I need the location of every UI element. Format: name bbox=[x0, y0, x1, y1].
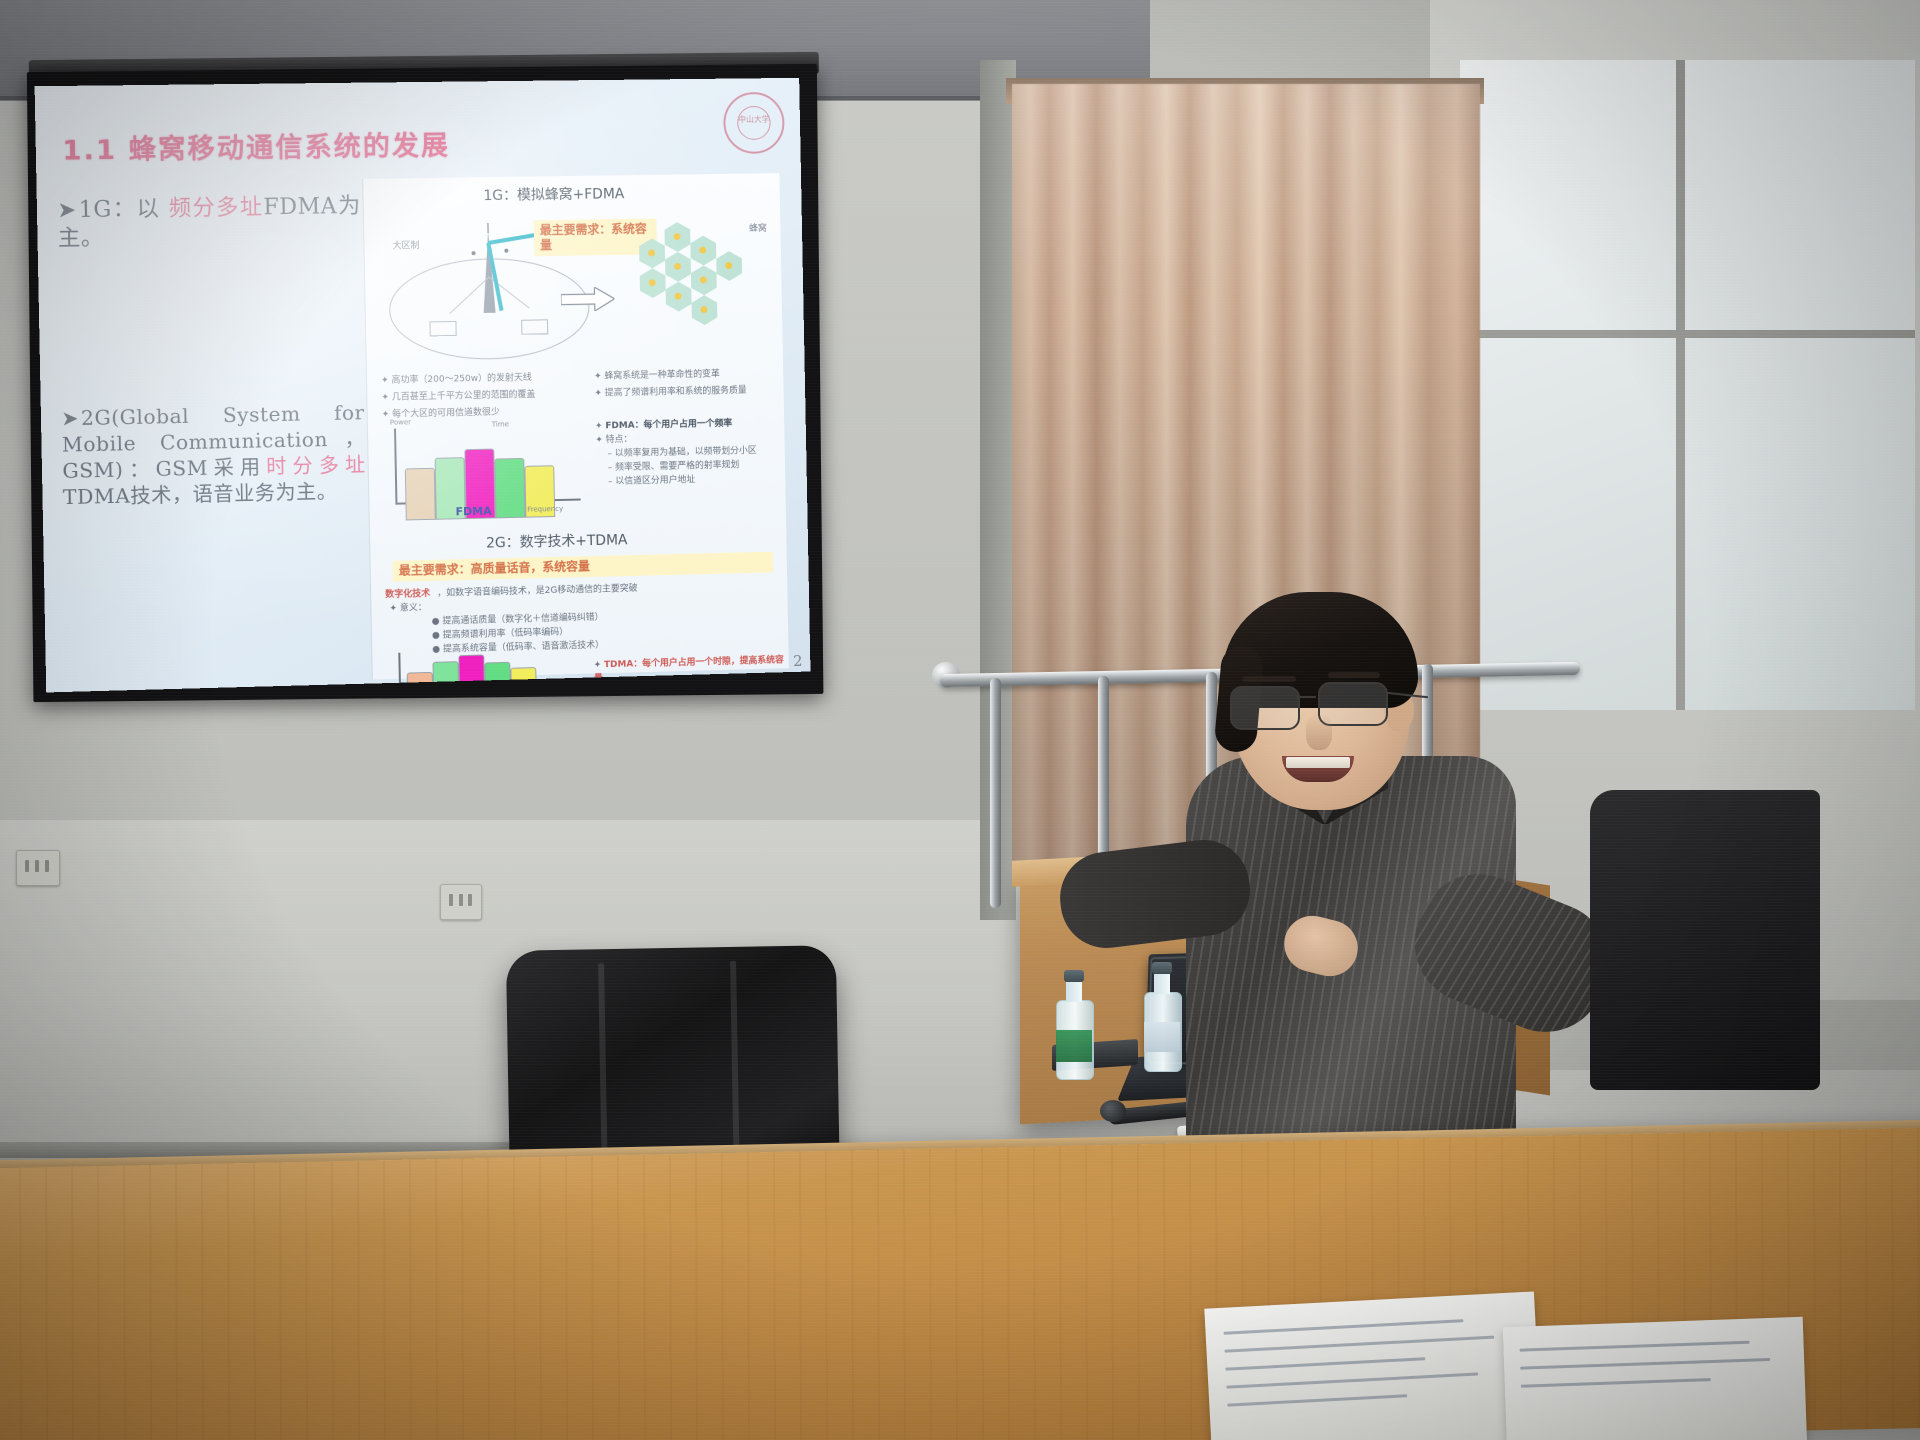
hex-cell bbox=[690, 236, 716, 266]
hex-cell bbox=[716, 251, 742, 281]
bottle-cap bbox=[1152, 962, 1172, 974]
panel-2g-meaning-label: ✦ 意义： bbox=[389, 602, 427, 617]
university-logo-icon: 中山大学 bbox=[723, 92, 785, 154]
slide-title: 1.1 蜂窝移动通信系统的发展 bbox=[62, 124, 450, 168]
eyeglass-bridge bbox=[1296, 696, 1316, 698]
panel-2g-highlight: 最主要需求：高质量话音，系统容量 bbox=[393, 552, 774, 582]
bullet-arrow-icon: ➤ bbox=[57, 198, 77, 224]
slide-right-panel: 1G：模拟蜂窝+FDMA 大区制 最主要需求：系统 bbox=[362, 173, 789, 679]
slide-left-column: ➤1G：以 频分多址FDMA为主。 ➤2G(Global System for … bbox=[57, 193, 366, 519]
chart-y-label: Power bbox=[390, 418, 411, 426]
bullet-item: ✦ 几百甚至上千平方公里的范围的覆盖 bbox=[381, 388, 590, 406]
draped-coat bbox=[1590, 790, 1820, 1090]
bullet-item: ✦ 每个大区的可用信道数很少 bbox=[382, 405, 591, 423]
hex-cell bbox=[691, 265, 717, 295]
presenter-eyebrow-right bbox=[1328, 672, 1380, 678]
microphone-head bbox=[1100, 1100, 1126, 1122]
bottle-neck bbox=[1066, 982, 1082, 1002]
hex-cell bbox=[665, 282, 691, 312]
hex-cell bbox=[639, 238, 665, 268]
label-cellular: 蜂窝 bbox=[749, 221, 767, 234]
university-logo-label: 中山大学 bbox=[725, 114, 782, 126]
hex-cell bbox=[691, 295, 717, 325]
chart-x-label: Frequency bbox=[527, 505, 563, 514]
bullet-item: ✦ 高功率（200～250w）的发射天线 bbox=[381, 371, 590, 389]
bullet-2g-p3: TDMA技术，语音业务为主。 bbox=[63, 479, 338, 509]
fdma-note: – 以信道区分用户地址 bbox=[608, 472, 780, 490]
railing-post bbox=[990, 678, 1001, 908]
bullet-1g-p1: 1G：以 bbox=[78, 197, 169, 223]
eyeglass-temple bbox=[1386, 692, 1428, 698]
panel-2g-header: 2G：数字技术+TDMA bbox=[486, 529, 628, 552]
chart-bar bbox=[405, 468, 436, 521]
wall-outlet-right bbox=[440, 884, 482, 920]
chart-bar bbox=[494, 458, 525, 519]
chart-z-label: Time bbox=[492, 420, 509, 428]
presenter-nose bbox=[1306, 714, 1332, 750]
panel-fdma-notes: ✦ FDMA：每个用户占用一个频率 ✦ 特点： – 以频率复用为基础，以频带划分… bbox=[595, 417, 780, 490]
panel-2g-lead-red: 数字化技术 bbox=[385, 588, 430, 603]
panel-1g-header: 1G：模拟蜂窝+FDMA bbox=[483, 183, 624, 205]
bottle-neck bbox=[1154, 974, 1170, 994]
slide-page-number: 2 bbox=[793, 652, 803, 670]
slide-bullet-2g: ➤2G(Global System for Mobile Communicati… bbox=[61, 399, 366, 510]
window-mullion-v bbox=[1676, 60, 1685, 710]
window-mullion-h bbox=[1460, 330, 1915, 338]
transition-arrow-icon bbox=[561, 287, 615, 312]
chart-y-axis bbox=[394, 429, 397, 505]
panel-1g-bullets-right: ✦ 蜂窝系统是一种革命性的变革 ✦ 提高了频谱利用率和系统的服务质量 bbox=[594, 367, 778, 401]
hex-cell bbox=[640, 268, 666, 298]
label-macro-cell: 大区制 bbox=[392, 238, 419, 251]
hex-cell bbox=[665, 252, 691, 282]
cellular-hex-cluster bbox=[621, 221, 771, 350]
presenter-teeth bbox=[1286, 757, 1350, 768]
bullet-item: ✦ 提高了频谱利用率和系统的服务质量 bbox=[594, 384, 777, 401]
chart-title: FDMA bbox=[455, 505, 491, 519]
seated-presenter bbox=[1178, 588, 1598, 1148]
hex-cell bbox=[664, 222, 690, 252]
printed-handout-1[interactable] bbox=[1204, 1291, 1541, 1440]
bottle-label bbox=[1056, 1030, 1092, 1062]
bullet-arrow-icon: ➤ bbox=[61, 406, 79, 431]
fdma-chart: Power Time FDMA Frequency bbox=[388, 425, 589, 521]
bullet-2g-highlight: 时分多址 bbox=[266, 453, 366, 479]
panel-1g-bullets-left: ✦ 高功率（200～250w）的发射天线 ✦ 几百甚至上千平方公里的范围的覆盖 … bbox=[381, 371, 591, 423]
wall-outlet-left bbox=[16, 850, 60, 886]
bottle-cap bbox=[1064, 970, 1084, 982]
eyeglass-lens-left bbox=[1230, 686, 1300, 730]
photo-scene: 1.1 蜂窝移动通信系统的发展 中山大学 ➤1G：以 频分多址FDMA为主。 ➤… bbox=[0, 0, 1920, 1440]
printed-handout-2[interactable] bbox=[1503, 1317, 1807, 1440]
projection-screen: 1.1 蜂窝移动通信系统的发展 中山大学 ➤1G：以 频分多址FDMA为主。 ➤… bbox=[19, 56, 825, 684]
bullet-1g-highlight: 频分多址 bbox=[169, 195, 264, 221]
bullet-item: ✦ 蜂窝系统是一种革命性的变革 bbox=[594, 367, 777, 384]
panel-2g-lead-text: ，如数字语音编码技术，是2G移动通信的主要突破 bbox=[437, 579, 783, 602]
projected-slide: 1.1 蜂窝移动通信系统的发展 中山大学 ➤1G：以 频分多址FDMA为主。 ➤… bbox=[35, 78, 811, 693]
slide-bullet-1g: ➤1G：以 频分多址FDMA为主。 bbox=[57, 193, 361, 254]
bottle-label bbox=[1144, 1022, 1180, 1052]
